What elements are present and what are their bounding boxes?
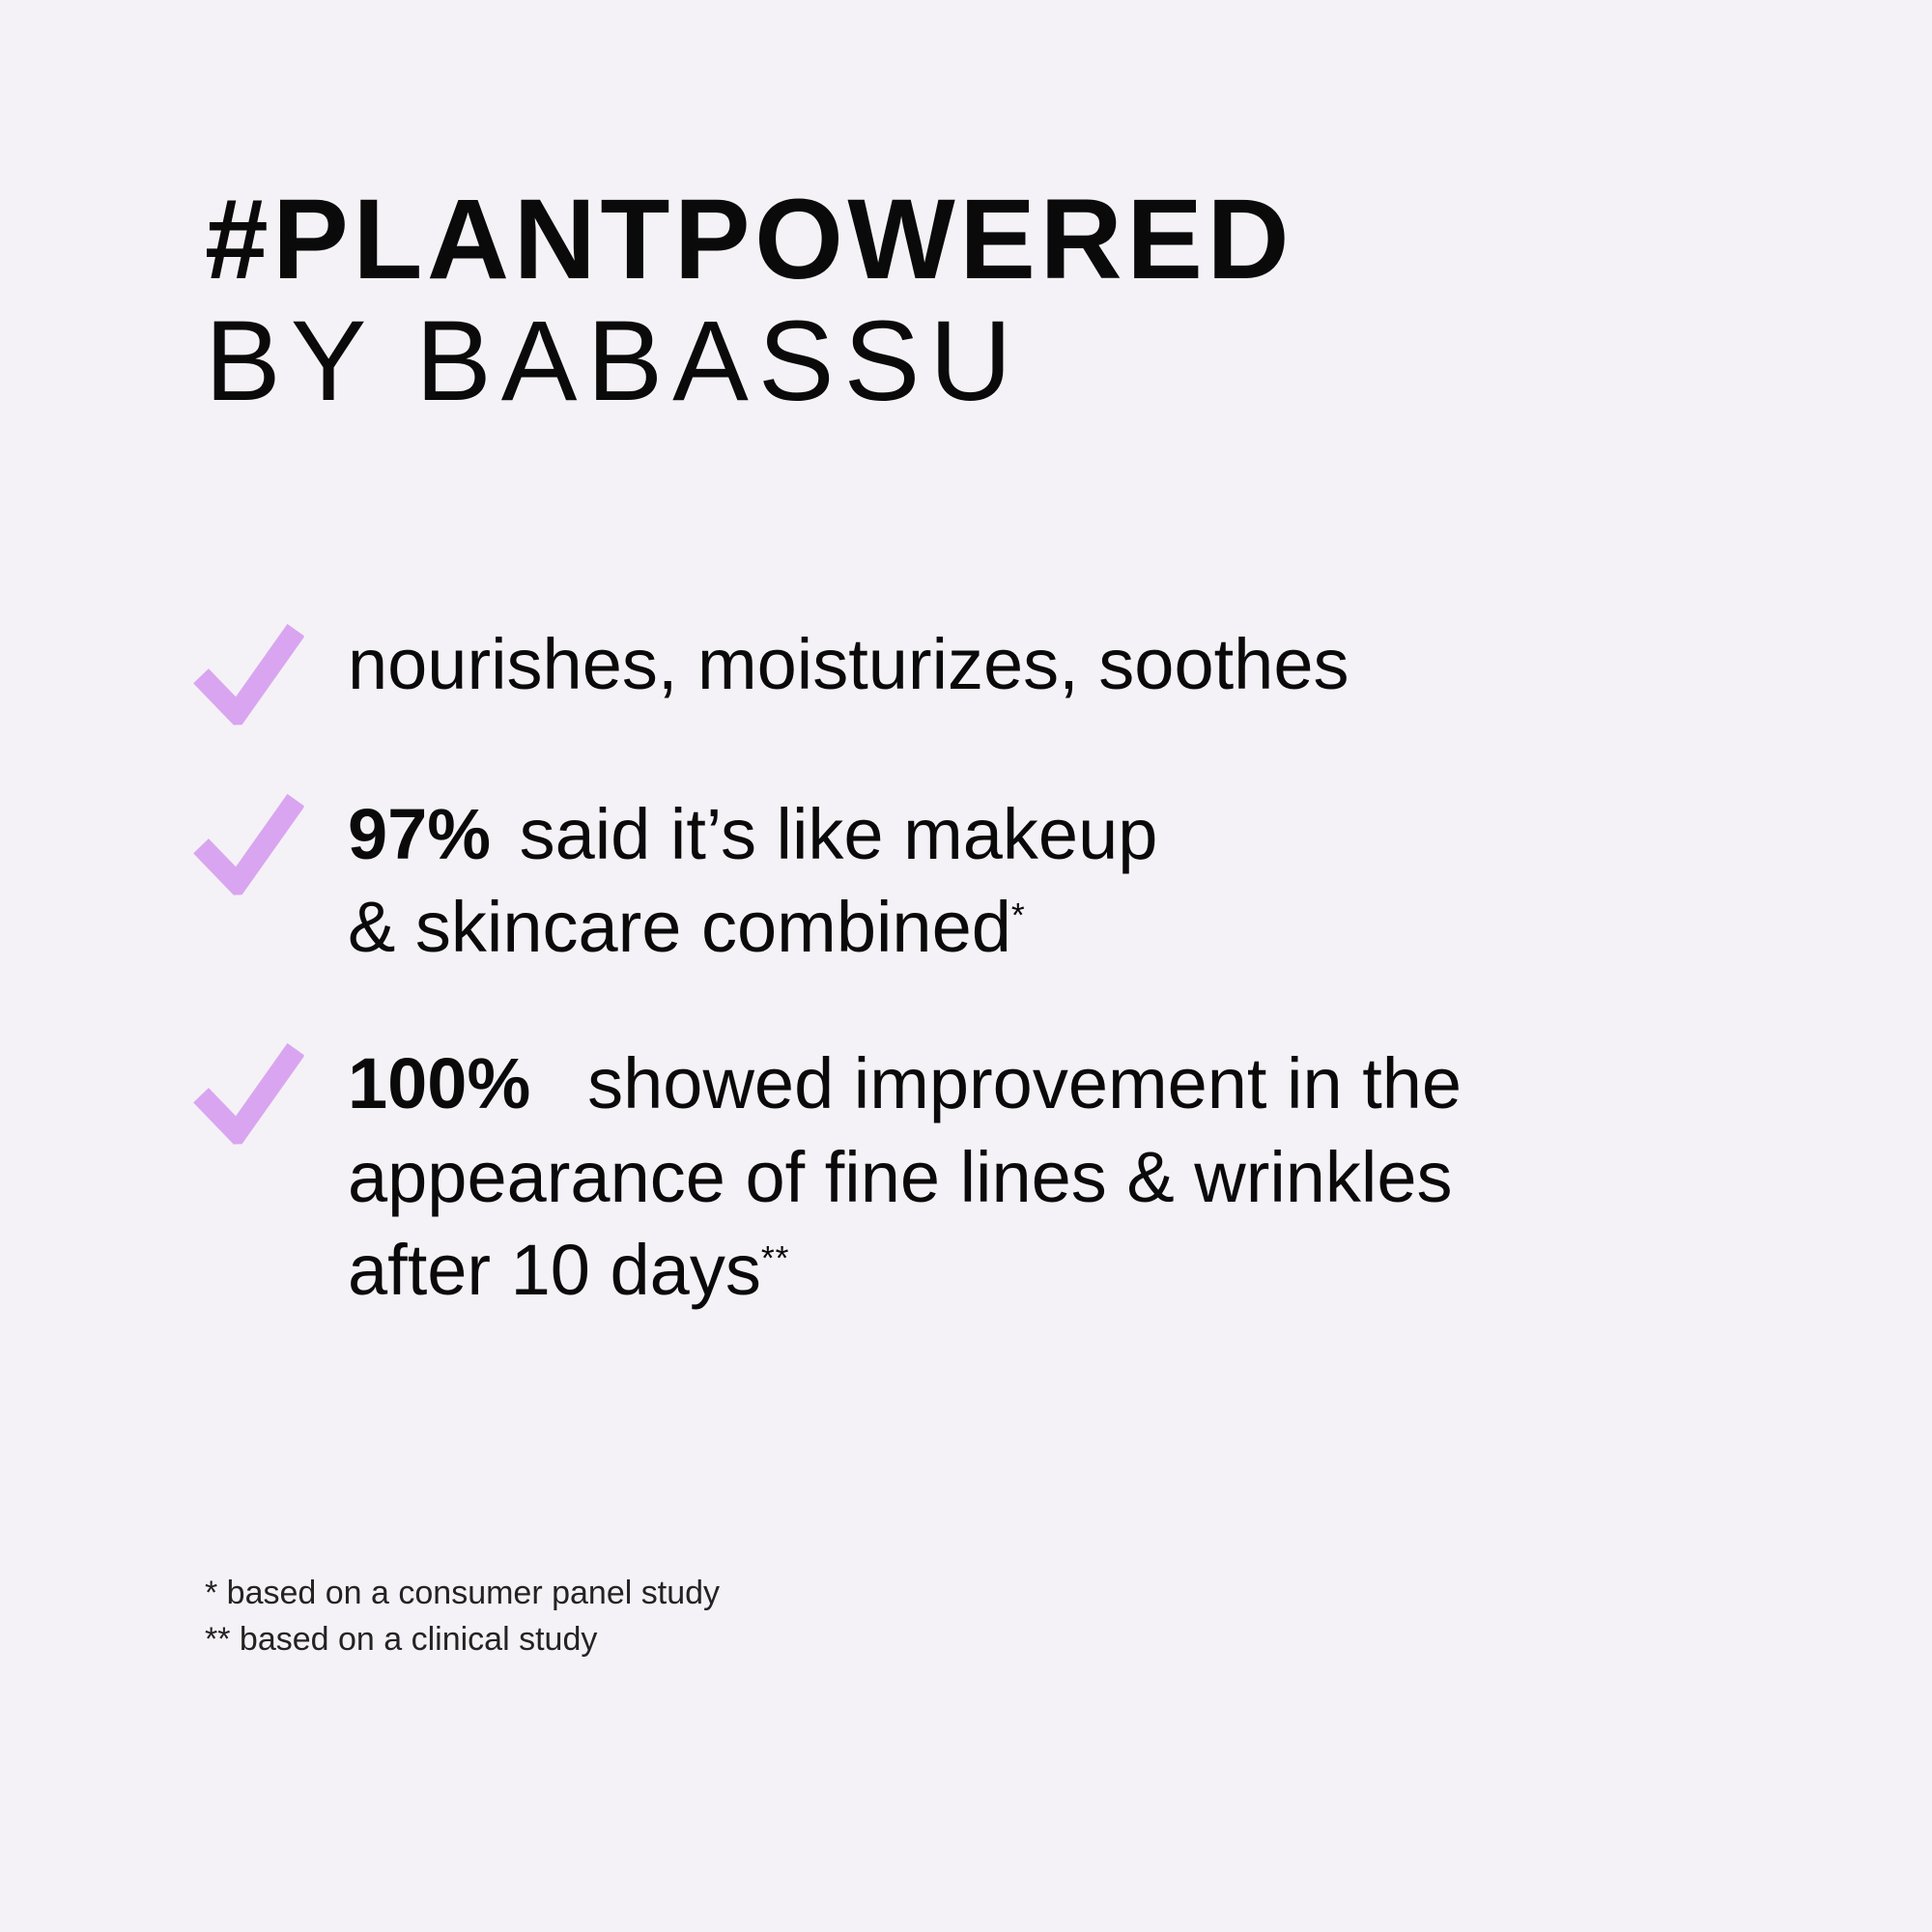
headline-line-primary: #PLANTPOWERED [205,182,1847,298]
claim-line-3: after 10 days [348,1230,761,1310]
check-icon-wrap [193,1037,348,1144]
claim-line-1: showed improvement in the [587,1043,1462,1123]
claim-stat: 100% [348,1043,530,1123]
claim-footnote-marker: * [1011,896,1026,935]
claims-list: nourishes, moisturizes, soothes 97% said… [193,618,1855,1317]
check-icon-wrap [193,788,348,895]
claim-item: 97% said it’s like makeup & skincare com… [193,788,1855,974]
claim-line-2: appearance of fine lines & wrinkles [348,1137,1453,1217]
claim-line-2: & skincare combined [348,887,1011,967]
claim-text: 97% said it’s like makeup & skincare com… [348,788,1855,974]
promo-poster: #PLANTPOWERED BY BABASSU nourishes, mois… [0,0,1932,1932]
claim-item: 100% showed improvement in the appearanc… [193,1037,1855,1317]
footnote-double-asterisk: ** based on a clinical study [205,1616,1654,1662]
footnote-single-asterisk: * based on a consumer panel study [205,1570,1654,1616]
claim-line-1: nourishes, moisturizes, soothes [348,624,1349,704]
check-icon [191,1041,307,1146]
claim-text: 100% showed improvement in the appearanc… [348,1037,1855,1317]
claim-text: nourishes, moisturizes, soothes [348,618,1855,711]
check-icon [191,792,307,896]
claim-stat: 97% [348,794,491,874]
check-icon-wrap [193,618,348,724]
claim-footnote-marker: ** [761,1238,790,1277]
claim-item: nourishes, moisturizes, soothes [193,618,1855,724]
footnotes-block: * based on a consumer panel study ** bas… [205,1570,1654,1663]
check-icon [191,622,307,726]
headline-block: #PLANTPOWERED BY BABASSU [205,182,1847,422]
claim-line-1: said it’s like makeup [520,794,1158,874]
headline-line-secondary: BY BABASSU [205,301,1847,422]
